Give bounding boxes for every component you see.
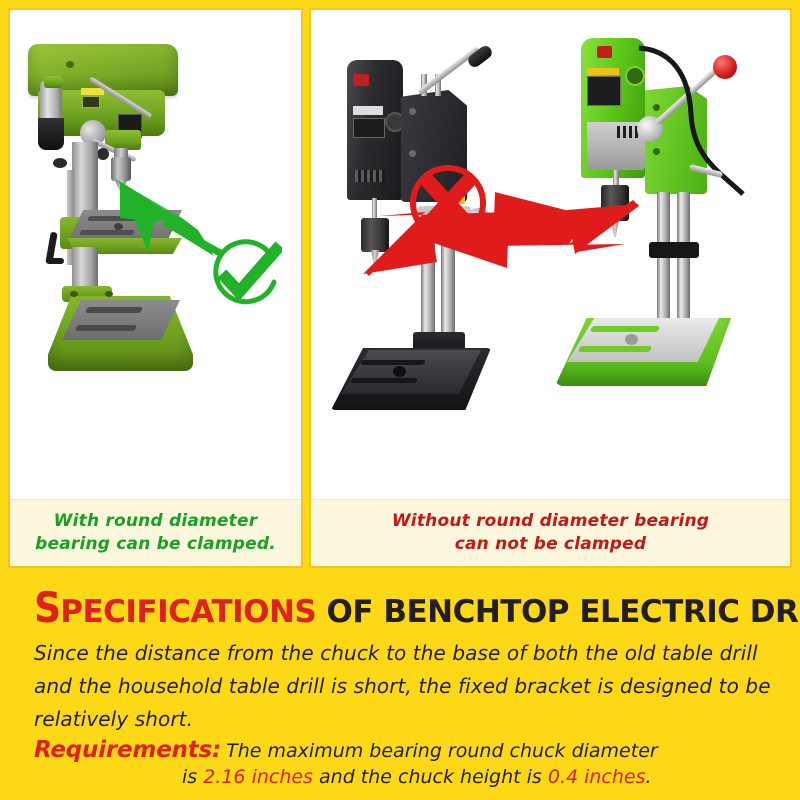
panel-row: With round diameter bearing can be clamp… (8, 8, 792, 568)
head-bolt (66, 61, 74, 68)
photo-area: With round diameter bearing can be clamp… (0, 0, 800, 575)
requirements-line2-prefix: is (182, 766, 203, 788)
feed-handle-knob2 (97, 148, 109, 160)
title-red-rest: PECIFICATIONS (60, 594, 316, 630)
black-spec-label (353, 118, 385, 138)
green-spec-label (587, 76, 621, 106)
black-base-slot2 (350, 378, 418, 383)
requirements-line1: Requirements: The maximum bearing round … (34, 737, 780, 763)
base-bolt-left (70, 291, 78, 297)
green-check-circle-icon (206, 238, 282, 314)
caption-left-line1: With round diameter (54, 510, 258, 533)
black-base-slot1 (360, 360, 426, 365)
title-drop-cap: S (34, 583, 60, 632)
caption-right-line2: can not be clamped (455, 533, 647, 556)
panel-right-incorrect: Without round diameter bearing can not b… (309, 8, 792, 568)
feed-handle-knob (53, 158, 67, 168)
requirements-line2-middle: and the chuck height is (313, 766, 548, 788)
specifications-body: Since the distance from the chuck to the… (34, 637, 776, 736)
specifications-title: SPECIFICATIONS OF BENCHTOP ELECTRIC DRIL… (34, 583, 800, 632)
infographic-page: With round diameter bearing can be clamp… (0, 0, 800, 800)
green-label-yellow (587, 68, 619, 75)
requirements-line1-text: The maximum bearing round chuck diameter (226, 740, 658, 762)
green-post-left (657, 192, 670, 330)
speed-window (82, 96, 100, 108)
green-base-slot2 (578, 346, 652, 352)
caption-left: With round diameter bearing can be clamp… (10, 499, 301, 566)
green-post-right (677, 192, 690, 330)
green-base-slot1 (590, 326, 660, 332)
requirements-label: Requirements: (34, 737, 221, 763)
requirements-line2-suffix: . (646, 766, 652, 788)
black-lever-grip (466, 43, 495, 69)
base-slot-2 (75, 325, 137, 331)
base-plate (62, 300, 180, 340)
green-power-cord (631, 44, 761, 224)
black-feed-lever (417, 46, 480, 95)
black-base-hole (393, 366, 406, 377)
motor-mount (44, 76, 62, 88)
black-switch (353, 74, 369, 86)
caption-left-line2: bearing can be clamped. (35, 533, 276, 556)
green-base-hole (625, 334, 638, 345)
black-brand-label (353, 106, 383, 115)
red-x-circle-icon (403, 158, 493, 248)
photo-two-bench-drills (311, 10, 790, 500)
table-crank-handle (46, 258, 64, 264)
caption-right-line1: Without round diameter bearing (392, 510, 709, 533)
base-slot-1 (85, 307, 143, 313)
requirements-block: Requirements: The maximum bearing round … (34, 737, 780, 788)
motor-cap (38, 118, 64, 150)
green-post-clamp (649, 242, 699, 258)
caption-right: Without round diameter bearing can not b… (311, 499, 790, 566)
green-switch (597, 46, 612, 58)
photo-green-drill-press (10, 10, 301, 500)
requirements-diameter-value: 2.16 inches (203, 766, 313, 788)
base-bolt-right (105, 291, 113, 297)
specifications-section: SPECIFICATIONS OF BENCHTOP ELECTRIC DRIL… (0, 575, 800, 800)
panel-left-correct: With round diameter bearing can be clamp… (8, 8, 303, 568)
requirements-height-value: 0.4 inches (548, 766, 646, 788)
title-dark-rest: OF BENCHTOP ELECTRIC DRILL (316, 594, 800, 630)
warning-label (81, 88, 104, 95)
red-arrow-right (493, 186, 643, 296)
requirements-line2: is 2.16 inches and the chuck height is 0… (182, 766, 780, 788)
black-bracket-bolt2 (409, 150, 416, 157)
black-bracket-bolt1 (409, 108, 416, 115)
